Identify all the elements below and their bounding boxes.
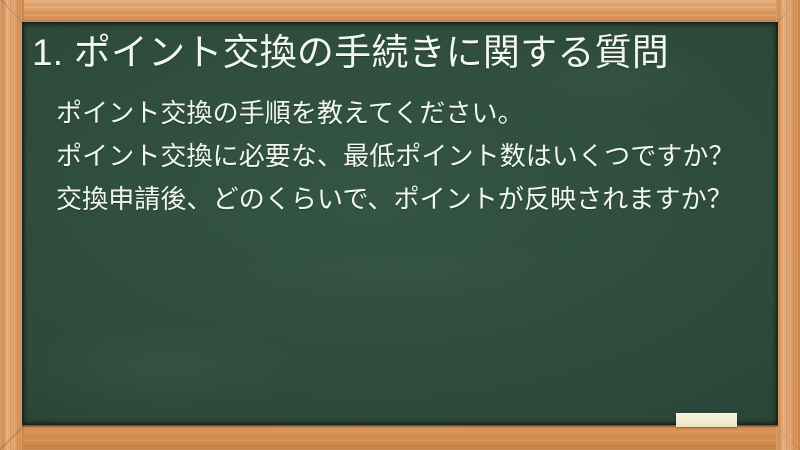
board-bottom-lip: [22, 425, 778, 427]
frame-corner-bottom-right: [776, 426, 800, 450]
frame-rail-top: [0, 0, 800, 24]
slide-content: 1. ポイント交換の手続きに関する質問 ポイント交換の手順を教えてください。 ポ…: [22, 22, 778, 425]
chalkboard-surface: 1. ポイント交換の手続きに関する質問 ポイント交換の手順を教えてください。 ポ…: [22, 22, 778, 425]
frame-rail-right: [776, 0, 800, 450]
chalk-eraser-icon: [676, 413, 737, 427]
chalkboard-slide: 1. ポイント交換の手続きに関する質問 ポイント交換の手順を教えてください。 ポ…: [0, 0, 800, 450]
frame-corner-top-right: [776, 0, 800, 24]
page-title: 1. ポイント交換の手続きに関する質問: [32, 30, 764, 76]
frame-rail-left: [0, 0, 24, 450]
list-item: ポイント交換に必要な、最低ポイント数はいくつですか？: [32, 139, 764, 173]
frame-rail-bottom: [0, 426, 800, 450]
list-item: 交換申請後、どのくらいで、ポイントが反映されますか？: [32, 182, 764, 216]
list-item: ポイント交換の手順を教えてください。: [32, 96, 764, 130]
frame-corner-bottom-left: [0, 426, 24, 450]
frame-corner-top-left: [0, 0, 24, 24]
question-list: ポイント交換の手順を教えてください。 ポイント交換に必要な、最低ポイント数はいく…: [32, 96, 764, 216]
